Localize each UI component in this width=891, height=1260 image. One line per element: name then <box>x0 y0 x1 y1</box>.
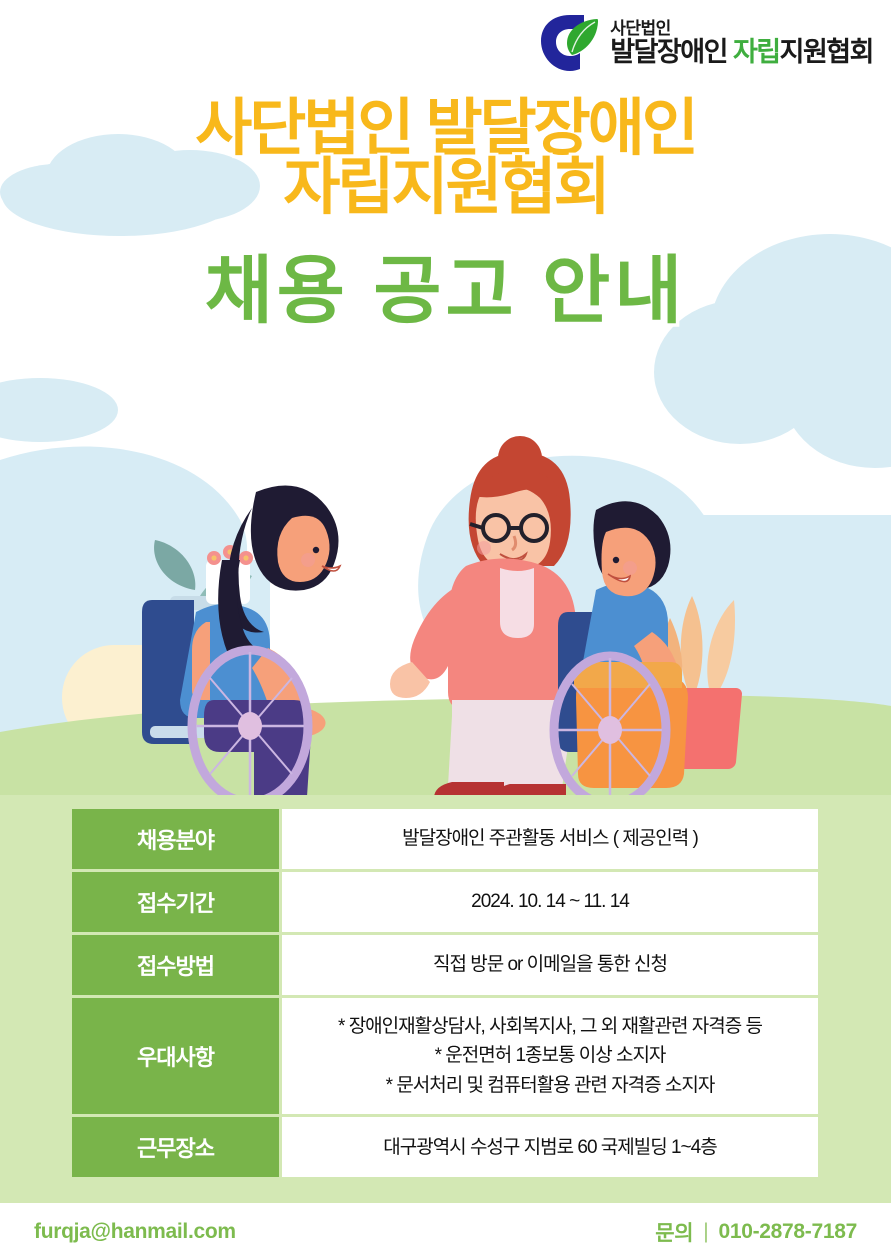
logo-line-1: 사단법인 <box>610 20 873 37</box>
row-label-application-method: 접수방법 <box>72 935 279 995</box>
contact-label: 문의 <box>655 1217 693 1247</box>
contact-email[interactable]: furqja@hanmail.com <box>34 1220 236 1244</box>
logo-line2-a: 발달장애인 <box>610 37 733 67</box>
recruitment-info-table: 채용분야 발달장애인 주관활동 서비스 ( 제공인력 ) 접수기간 2024. … <box>72 806 818 1180</box>
people-illustration <box>0 400 891 800</box>
logo-line2-b: 지원협회 <box>780 37 873 67</box>
value-line: * 장애인재활상담사, 사회복지사, 그 외 재활관련 자격증 등 <box>292 1012 808 1041</box>
logo-line2-green: 자립 <box>733 37 780 67</box>
row-label-recruitment-field: 채용분야 <box>72 809 279 869</box>
logo-wordmark: 사단법인 발달장애인 자립지원협회 <box>610 20 873 66</box>
table-body: 채용분야 발달장애인 주관활동 서비스 ( 제공인력 ) 접수기간 2024. … <box>72 809 818 1177</box>
row-value-application-method: 직접 방문 or 이메일을 통한 신청 <box>279 935 818 995</box>
value-line: 2024. 10. 14 ~ 11. 14 <box>292 887 808 916</box>
page-title: 채용 공고 안내 <box>0 254 891 328</box>
value-line: * 문서처리 및 컴퓨터활용 관련 자격증 소지자 <box>292 1071 808 1100</box>
row-value-application-period: 2024. 10. 14 ~ 11. 14 <box>279 872 818 932</box>
table-row: 우대사항 * 장애인재활상담사, 사회복지사, 그 외 재활관련 자격증 등 *… <box>72 998 818 1114</box>
value-line: 직접 방문 or 이메일을 통한 신청 <box>292 950 808 979</box>
organization-title: 사단법인 발달장애인 자립지원협회 <box>0 100 891 218</box>
value-line: * 운전면허 1종보통 이상 소지자 <box>292 1041 808 1070</box>
row-label-work-location: 근무장소 <box>72 1117 279 1177</box>
table-row: 접수방법 직접 방문 or 이메일을 통한 신청 <box>72 935 818 995</box>
logo-line-2: 발달장애인 자립지원협회 <box>610 39 873 66</box>
contact-phone-group: 문의 | 010-2878-7187 <box>655 1217 857 1247</box>
contact-separator: | <box>703 1220 708 1244</box>
row-label-preferred-qualifications: 우대사항 <box>72 998 279 1114</box>
value-line: 대구광역시 수성구 지범로 60 국제빌딩 1~4층 <box>292 1133 808 1162</box>
organization-logo: 사단법인 발달장애인 자립지원협회 <box>540 14 873 72</box>
leaf-logo-icon <box>540 14 602 72</box>
table-row: 채용분야 발달장애인 주관활동 서비스 ( 제공인력 ) <box>72 809 818 869</box>
value-line: 발달장애인 주관활동 서비스 ( 제공인력 ) <box>292 824 808 853</box>
poster-title-block: 사단법인 발달장애인 자립지원협회 채용 공고 안내 <box>0 100 891 328</box>
row-value-preferred-qualifications: * 장애인재활상담사, 사회복지사, 그 외 재활관련 자격증 등 * 운전면허… <box>279 998 818 1114</box>
contact-phone-number[interactable]: 010-2878-7187 <box>718 1220 857 1244</box>
org-title-line-1: 사단법인 발달장애인 <box>0 100 891 159</box>
org-title-line-2: 자립지원협회 <box>0 159 891 218</box>
row-label-application-period: 접수기간 <box>72 872 279 932</box>
contact-footer: furqja@hanmail.com 문의 | 010-2878-7187 <box>0 1203 891 1260</box>
table-row: 근무장소 대구광역시 수성구 지범로 60 국제빌딩 1~4층 <box>72 1117 818 1177</box>
row-value-recruitment-field: 발달장애인 주관활동 서비스 ( 제공인력 ) <box>279 809 818 869</box>
table-row: 접수기간 2024. 10. 14 ~ 11. 14 <box>72 872 818 932</box>
row-value-work-location: 대구광역시 수성구 지범로 60 국제빌딩 1~4층 <box>279 1117 818 1177</box>
